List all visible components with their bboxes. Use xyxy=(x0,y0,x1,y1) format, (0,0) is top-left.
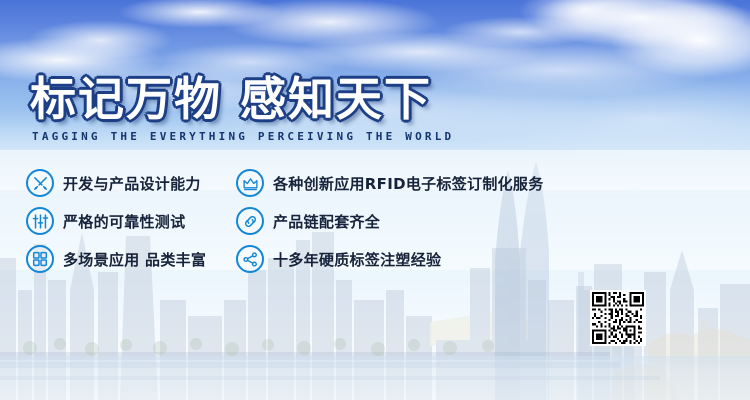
feature-item: 产品链配套齐全 xyxy=(236,202,544,240)
feature-label: 各种创新应用RFID电子标签订制化服务 xyxy=(273,173,544,194)
feature-label: 严格的可靠性测试 xyxy=(63,211,185,232)
crown-icon xyxy=(236,169,264,197)
feature-label: 产品链配套齐全 xyxy=(273,211,380,232)
promo-banner: 标记万物 感知天下 TAGGING THE EVERYTHING PERCEIV… xyxy=(0,0,750,400)
feature-label: 十多年硬质标签注塑经验 xyxy=(273,249,441,270)
feature-item: 十多年硬质标签注塑经验 xyxy=(236,240,544,278)
feature-item: 开发与产品设计能力 xyxy=(26,164,206,202)
page-title: 标记万物 感知天下 xyxy=(30,76,432,122)
link-icon xyxy=(236,207,264,235)
tools-icon xyxy=(26,169,54,197)
waterfront-band xyxy=(0,356,750,400)
feature-label: 开发与产品设计能力 xyxy=(63,173,201,194)
feature-item: 严格的可靠性测试 xyxy=(26,202,206,240)
feature-column-right: 各种创新应用RFID电子标签订制化服务 产品链配套齐全 xyxy=(236,164,544,278)
share-icon xyxy=(236,245,264,273)
feature-item: 各种创新应用RFID电子标签订制化服务 xyxy=(236,164,544,202)
sliders-icon xyxy=(26,207,54,235)
qr-code[interactable] xyxy=(590,290,646,346)
page-subtitle: TAGGING THE EVERYTHING PERCEIVING THE WO… xyxy=(32,130,454,143)
grid-icon xyxy=(26,245,54,273)
headline-block: 标记万物 感知天下 xyxy=(30,76,432,122)
feature-item: 多场景应用 品类丰富 xyxy=(26,240,206,278)
feature-column-left: 开发与产品设计能力 严格的可靠性测试 xyxy=(26,164,206,278)
feature-label: 多场景应用 品类丰富 xyxy=(63,249,206,270)
